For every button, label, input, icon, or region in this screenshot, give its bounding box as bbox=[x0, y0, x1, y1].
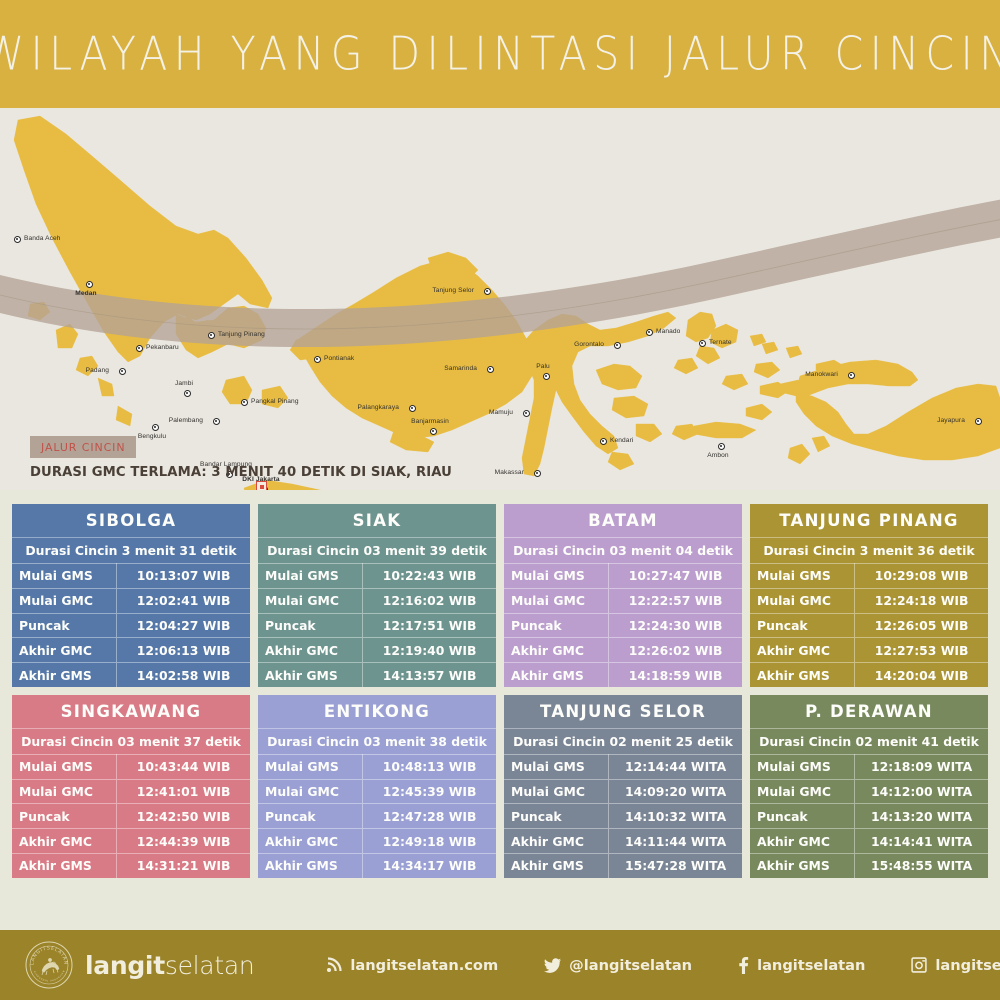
timing-label: Akhir GMS bbox=[504, 663, 609, 687]
map-section: Banda AcehMedanTanjung PinangPekanbaruPa… bbox=[0, 108, 1000, 490]
card-timing-table: Mulai GMS12:14:44 WITAMulai GMC14:09:20 … bbox=[504, 754, 742, 878]
timing-value: 14:13:20 WITA bbox=[855, 804, 988, 829]
timing-value: 12:24:18 WIB bbox=[855, 588, 988, 613]
table-row: Akhir GMS14:13:57 WIB bbox=[258, 663, 496, 687]
table-row: Akhir GMS14:31:21 WIB bbox=[12, 854, 250, 878]
timing-value: 12:42:50 WIB bbox=[117, 804, 250, 829]
infographic-page: WILAYAH YANG DILINTASI JALUR CINCIN bbox=[0, 0, 1000, 1000]
footer-link-label: langitselatanmedia bbox=[935, 957, 1000, 974]
timing-card: ENTIKONGDurasi Cincin 03 menit 38 detikM… bbox=[258, 695, 496, 878]
timing-card: P. DERAWANDurasi Cincin 02 menit 41 deti… bbox=[750, 695, 988, 878]
timing-value: 15:48:55 WITA bbox=[855, 854, 988, 878]
table-row: Mulai GMC14:12:00 WITA bbox=[750, 779, 988, 804]
timing-label: Akhir GMS bbox=[750, 663, 855, 687]
timing-card: TANJUNG PINANGDurasi Cincin 3 menit 36 d… bbox=[750, 504, 988, 687]
timing-label: Akhir GMS bbox=[12, 854, 117, 878]
timing-value: 12:45:39 WIB bbox=[363, 779, 496, 804]
card-timing-table: Mulai GMS10:27:47 WIBMulai GMC12:22:57 W… bbox=[504, 563, 742, 687]
table-row: Mulai GMS10:13:07 WIB bbox=[12, 564, 250, 589]
svg-text:Astronomi Indonesia: Astronomi Indonesia bbox=[33, 970, 66, 983]
timing-value: 10:48:13 WIB bbox=[363, 754, 496, 779]
timing-card: SIAKDurasi Cincin 03 menit 39 detikMulai… bbox=[258, 504, 496, 687]
timing-label: Mulai GMS bbox=[12, 564, 117, 589]
table-row: Akhir GMC12:27:53 WIB bbox=[750, 638, 988, 663]
timing-value: 15:47:28 WITA bbox=[609, 854, 742, 878]
card-city-title: P. DERAWAN bbox=[750, 695, 988, 728]
timing-value: 12:24:30 WIB bbox=[609, 613, 742, 638]
timing-value: 12:02:41 WIB bbox=[117, 588, 250, 613]
footer-link-label: langitselatan.com bbox=[350, 957, 498, 974]
table-row: Mulai GMS10:29:08 WIB bbox=[750, 564, 988, 589]
timing-card: SIBOLGADurasi Cincin 3 menit 31 detikMul… bbox=[12, 504, 250, 687]
card-timing-table: Mulai GMS10:29:08 WIBMulai GMC12:24:18 W… bbox=[750, 563, 988, 687]
timing-label: Mulai GMC bbox=[750, 779, 855, 804]
timing-label: Akhir GMC bbox=[258, 829, 363, 854]
timing-value: 10:29:08 WIB bbox=[855, 564, 988, 589]
timing-label: Akhir GMC bbox=[258, 638, 363, 663]
timing-label: Akhir GMC bbox=[12, 638, 117, 663]
timing-label: Akhir GMC bbox=[750, 829, 855, 854]
timing-value: 12:27:53 WIB bbox=[855, 638, 988, 663]
timing-label: Akhir GMS bbox=[504, 854, 609, 878]
table-row: Mulai GMC14:09:20 WITA bbox=[504, 779, 742, 804]
timing-label: Akhir GMS bbox=[258, 663, 363, 687]
footer-link-facebook[interactable]: langitselatan bbox=[738, 957, 865, 974]
table-row: Akhir GMS14:34:17 WIB bbox=[258, 854, 496, 878]
table-row: Puncak12:24:30 WIB bbox=[504, 613, 742, 638]
card-duration: Durasi Cincin 02 menit 25 detik bbox=[504, 728, 742, 754]
timing-value: 12:49:18 WIB bbox=[363, 829, 496, 854]
svg-text:LANGITSELATAN: LANGITSELATAN bbox=[29, 945, 68, 965]
header-banner: WILAYAH YANG DILINTASI JALUR CINCIN bbox=[0, 0, 1000, 108]
timing-value: 12:06:13 WIB bbox=[117, 638, 250, 663]
card-duration: Durasi Cincin 03 menit 39 detik bbox=[258, 537, 496, 563]
table-row: Akhir GMS15:48:55 WITA bbox=[750, 854, 988, 878]
social-links: langitselatan.com@langitselatanlangitsel… bbox=[326, 957, 1000, 974]
card-timing-table: Mulai GMS12:18:09 WITAMulai GMC14:12:00 … bbox=[750, 754, 988, 878]
brand-block[interactable]: LANGITSELATAN Astronomi Indonesia langit… bbox=[24, 940, 254, 990]
table-row: Akhir GMC12:06:13 WIB bbox=[12, 638, 250, 663]
timing-value: 10:43:44 WIB bbox=[117, 754, 250, 779]
timing-label: Akhir GMS bbox=[12, 663, 117, 687]
timing-value: 14:34:17 WIB bbox=[363, 854, 496, 878]
table-row: Akhir GMC14:14:41 WITA bbox=[750, 829, 988, 854]
timing-label: Mulai GMS bbox=[258, 754, 363, 779]
table-row: Mulai GMS10:48:13 WIB bbox=[258, 754, 496, 779]
timing-value: 12:17:51 WIB bbox=[363, 613, 496, 638]
timing-label: Mulai GMS bbox=[750, 754, 855, 779]
timing-value: 14:02:58 WIB bbox=[117, 663, 250, 687]
table-row: Puncak12:42:50 WIB bbox=[12, 804, 250, 829]
timing-value: 14:09:20 WITA bbox=[609, 779, 742, 804]
instagram-icon bbox=[911, 957, 927, 973]
timing-label: Mulai GMC bbox=[12, 779, 117, 804]
card-duration: Durasi Cincin 3 menit 36 detik bbox=[750, 537, 988, 563]
timing-value: 14:13:57 WIB bbox=[363, 663, 496, 687]
indonesia-map bbox=[0, 108, 1000, 490]
timing-label: Puncak bbox=[12, 613, 117, 638]
card-city-title: TANJUNG PINANG bbox=[750, 504, 988, 537]
timing-value: 10:13:07 WIB bbox=[117, 564, 250, 589]
footer-link-instagram[interactable]: langitselatanmedia bbox=[911, 957, 1000, 974]
card-timing-table: Mulai GMS10:48:13 WIBMulai GMC12:45:39 W… bbox=[258, 754, 496, 878]
timing-label: Mulai GMS bbox=[258, 564, 363, 589]
timing-card: TANJUNG SELORDurasi Cincin 02 menit 25 d… bbox=[504, 695, 742, 878]
brand-bold: langit bbox=[85, 951, 165, 980]
timing-label: Mulai GMS bbox=[504, 564, 609, 589]
card-city-title: ENTIKONG bbox=[258, 695, 496, 728]
timing-value: 12:19:40 WIB bbox=[363, 638, 496, 663]
timing-value: 10:22:43 WIB bbox=[363, 564, 496, 589]
card-row-bottom: SINGKAWANGDurasi Cincin 03 menit 37 deti… bbox=[12, 695, 988, 878]
card-city-title: BATAM bbox=[504, 504, 742, 537]
timing-label: Akhir GMC bbox=[504, 638, 609, 663]
timing-value: 12:47:28 WIB bbox=[363, 804, 496, 829]
timing-value: 12:26:05 WIB bbox=[855, 613, 988, 638]
timing-value: 12:22:57 WIB bbox=[609, 588, 742, 613]
langitselatan-seal-logo: LANGITSELATAN Astronomi Indonesia bbox=[24, 940, 74, 990]
table-row: Mulai GMC12:45:39 WIB bbox=[258, 779, 496, 804]
footer-link-rss[interactable]: langitselatan.com bbox=[326, 957, 498, 974]
card-city-title: TANJUNG SELOR bbox=[504, 695, 742, 728]
page-title: WILAYAH YANG DILINTASI JALUR CINCIN bbox=[0, 27, 1000, 81]
card-timing-table: Mulai GMS10:13:07 WIBMulai GMC12:02:41 W… bbox=[12, 563, 250, 687]
timing-label: Puncak bbox=[12, 804, 117, 829]
table-row: Mulai GMC12:02:41 WIB bbox=[12, 588, 250, 613]
table-row: Akhir GMC12:49:18 WIB bbox=[258, 829, 496, 854]
timing-label: Puncak bbox=[504, 613, 609, 638]
footer-link-label: langitselatan bbox=[757, 957, 865, 974]
timing-value: 12:14:44 WITA bbox=[609, 754, 742, 779]
card-city-title: SIBOLGA bbox=[12, 504, 250, 537]
timing-label: Mulai GMC bbox=[504, 588, 609, 613]
timing-value: 12:44:39 WIB bbox=[117, 829, 250, 854]
card-row-top: SIBOLGADurasi Cincin 3 menit 31 detikMul… bbox=[12, 504, 988, 687]
timing-label: Mulai GMC bbox=[258, 588, 363, 613]
table-row: Akhir GMS14:02:58 WIB bbox=[12, 663, 250, 687]
table-row: Puncak14:13:20 WITA bbox=[750, 804, 988, 829]
rss-icon bbox=[326, 957, 342, 973]
timing-value: 12:04:27 WIB bbox=[117, 613, 250, 638]
timing-label: Puncak bbox=[258, 613, 363, 638]
footer-bar: LANGITSELATAN Astronomi Indonesia langit… bbox=[0, 930, 1000, 1000]
dki-jakarta-marker bbox=[256, 481, 267, 490]
timing-card: BATAMDurasi Cincin 03 menit 04 detikMula… bbox=[504, 504, 742, 687]
timing-label: Puncak bbox=[750, 613, 855, 638]
table-row: Mulai GMC12:22:57 WIB bbox=[504, 588, 742, 613]
timing-value: 14:11:44 WITA bbox=[609, 829, 742, 854]
timing-card: SINGKAWANGDurasi Cincin 03 menit 37 deti… bbox=[12, 695, 250, 878]
table-row: Puncak12:26:05 WIB bbox=[750, 613, 988, 638]
timing-value: 10:27:47 WIB bbox=[609, 564, 742, 589]
timing-label: Mulai GMC bbox=[504, 779, 609, 804]
timing-label: Puncak bbox=[504, 804, 609, 829]
table-row: Akhir GMS15:47:28 WITA bbox=[504, 854, 742, 878]
table-row: Mulai GMC12:16:02 WIB bbox=[258, 588, 496, 613]
table-row: Mulai GMC12:41:01 WIB bbox=[12, 779, 250, 804]
card-duration: Durasi Cincin 02 menit 41 detik bbox=[750, 728, 988, 754]
timing-value: 12:18:09 WITA bbox=[855, 754, 988, 779]
table-row: Akhir GMS14:20:04 WIB bbox=[750, 663, 988, 687]
card-duration: Durasi Cincin 03 menit 37 detik bbox=[12, 728, 250, 754]
card-duration: Durasi Cincin 03 menit 38 detik bbox=[258, 728, 496, 754]
table-row: Mulai GMS12:14:44 WITA bbox=[504, 754, 742, 779]
table-row: Akhir GMC12:26:02 WIB bbox=[504, 638, 742, 663]
timing-label: Akhir GMC bbox=[504, 829, 609, 854]
footer-link-label: @langitselatan bbox=[569, 957, 692, 974]
timing-value: 12:16:02 WIB bbox=[363, 588, 496, 613]
timing-label: Mulai GMS bbox=[12, 754, 117, 779]
footer-link-twitter[interactable]: @langitselatan bbox=[544, 957, 692, 974]
card-timing-table: Mulai GMS10:43:44 WIBMulai GMC12:41:01 W… bbox=[12, 754, 250, 878]
table-row: Akhir GMC12:44:39 WIB bbox=[12, 829, 250, 854]
table-row: Akhir GMC12:19:40 WIB bbox=[258, 638, 496, 663]
timing-label: Akhir GMC bbox=[750, 638, 855, 663]
table-row: Akhir GMS14:18:59 WIB bbox=[504, 663, 742, 687]
card-duration: Durasi Cincin 03 menit 04 detik bbox=[504, 537, 742, 563]
table-row: Mulai GMS10:22:43 WIB bbox=[258, 564, 496, 589]
table-row: Puncak12:17:51 WIB bbox=[258, 613, 496, 638]
table-row: Mulai GMC12:24:18 WIB bbox=[750, 588, 988, 613]
brand-light: selatan bbox=[165, 951, 255, 980]
timing-value: 12:41:01 WIB bbox=[117, 779, 250, 804]
twitter-icon bbox=[544, 958, 561, 973]
timing-value: 14:20:04 WIB bbox=[855, 663, 988, 687]
timing-label: Mulai GMS bbox=[504, 754, 609, 779]
table-row: Puncak14:10:32 WITA bbox=[504, 804, 742, 829]
legend-jalur-cincin: JALUR CINCIN bbox=[30, 436, 136, 458]
timing-label: Mulai GMC bbox=[12, 588, 117, 613]
table-row: Mulai GMS10:27:47 WIB bbox=[504, 564, 742, 589]
card-duration: Durasi Cincin 3 menit 31 detik bbox=[12, 537, 250, 563]
city-timing-cards: SIBOLGADurasi Cincin 3 menit 31 detikMul… bbox=[0, 490, 1000, 930]
timing-value: 14:12:00 WITA bbox=[855, 779, 988, 804]
timing-label: Akhir GMC bbox=[12, 829, 117, 854]
card-city-title: SINGKAWANG bbox=[12, 695, 250, 728]
brand-wordmark: langitselatan bbox=[85, 951, 254, 980]
timing-value: 14:10:32 WITA bbox=[609, 804, 742, 829]
timing-value: 14:31:21 WIB bbox=[117, 854, 250, 878]
timing-label: Mulai GMC bbox=[258, 779, 363, 804]
timing-value: 14:18:59 WIB bbox=[609, 663, 742, 687]
table-row: Puncak12:04:27 WIB bbox=[12, 613, 250, 638]
timing-label: Puncak bbox=[258, 804, 363, 829]
card-timing-table: Mulai GMS10:22:43 WIBMulai GMC12:16:02 W… bbox=[258, 563, 496, 687]
card-city-title: SIAK bbox=[258, 504, 496, 537]
table-row: Mulai GMS12:18:09 WITA bbox=[750, 754, 988, 779]
map-caption: DURASI GMC TERLAMA: 3 MENIT 40 DETIK DI … bbox=[30, 465, 452, 480]
timing-label: Puncak bbox=[750, 804, 855, 829]
table-row: Puncak12:47:28 WIB bbox=[258, 804, 496, 829]
timing-value: 12:26:02 WIB bbox=[609, 638, 742, 663]
table-row: Mulai GMS10:43:44 WIB bbox=[12, 754, 250, 779]
timing-label: Akhir GMS bbox=[258, 854, 363, 878]
facebook-icon bbox=[738, 957, 749, 974]
timing-value: 14:14:41 WITA bbox=[855, 829, 988, 854]
timing-label: Mulai GMC bbox=[750, 588, 855, 613]
timing-label: Akhir GMS bbox=[750, 854, 855, 878]
timing-label: Mulai GMS bbox=[750, 564, 855, 589]
table-row: Akhir GMC14:11:44 WITA bbox=[504, 829, 742, 854]
